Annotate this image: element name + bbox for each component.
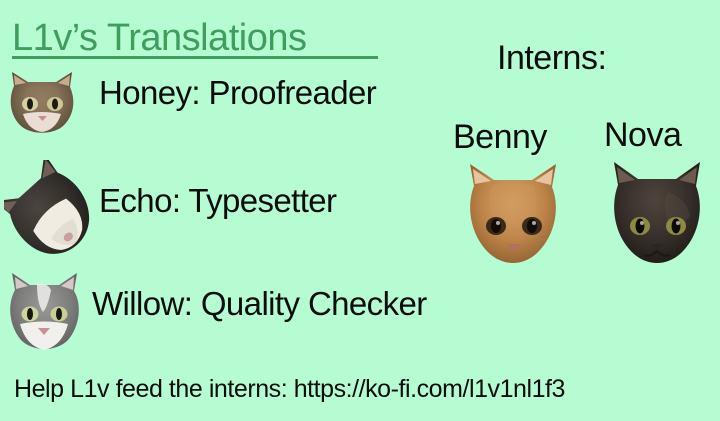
staff-row-echo: Echo: Typesetter <box>0 182 336 220</box>
translation-credits-card: L1v’s Translations Interns: Honey: Proof… <box>0 0 720 421</box>
staff-row-willow: Willow: Quality Checker <box>0 285 427 323</box>
staff-row-honey: Honey: Proofreader <box>0 74 376 112</box>
staff-label-honey: Honey: Proofreader <box>99 74 376 112</box>
interns-heading: Interns: <box>497 38 606 78</box>
title-underline <box>12 56 378 59</box>
support-link-text[interactable]: Help L1v feed the interns: https://ko-fi… <box>14 374 565 404</box>
intern-name-benny: Benny <box>453 117 547 157</box>
staff-label-echo: Echo: Typesetter <box>99 182 336 220</box>
staff-label-willow: Willow: Quality Checker <box>92 285 427 323</box>
avatar-nova-black-kitten <box>608 158 706 270</box>
page-title: L1v’s Translations <box>12 16 306 60</box>
avatar-benny-ginger-kitten <box>462 160 564 270</box>
intern-name-nova: Nova <box>604 115 681 155</box>
